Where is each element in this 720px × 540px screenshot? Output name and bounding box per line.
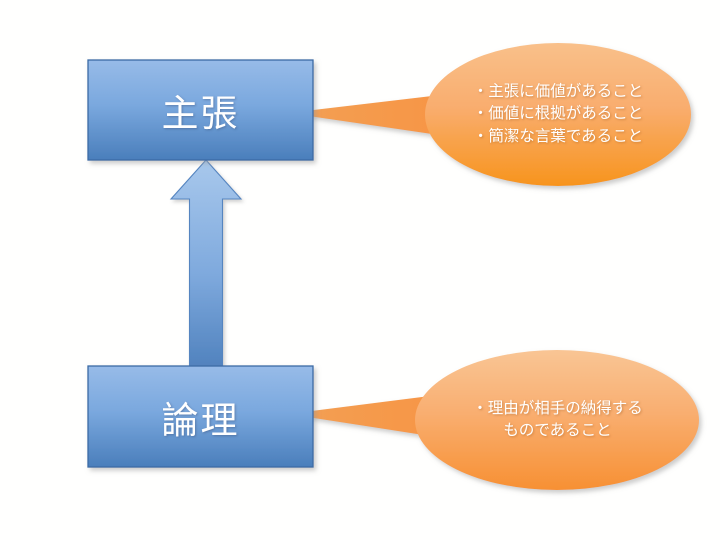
diagram-shapes [0, 0, 720, 540]
claim-box[interactable] [88, 60, 313, 160]
logic-callout [288, 350, 699, 490]
diagram-canvas: 主張 論理 ・主張に価値があること ・価値に根拠があること ・簡潔な言葉であるこ… [0, 0, 720, 540]
claim-callout [288, 43, 691, 186]
logic-box[interactable] [88, 366, 313, 467]
up-arrow [171, 160, 241, 370]
